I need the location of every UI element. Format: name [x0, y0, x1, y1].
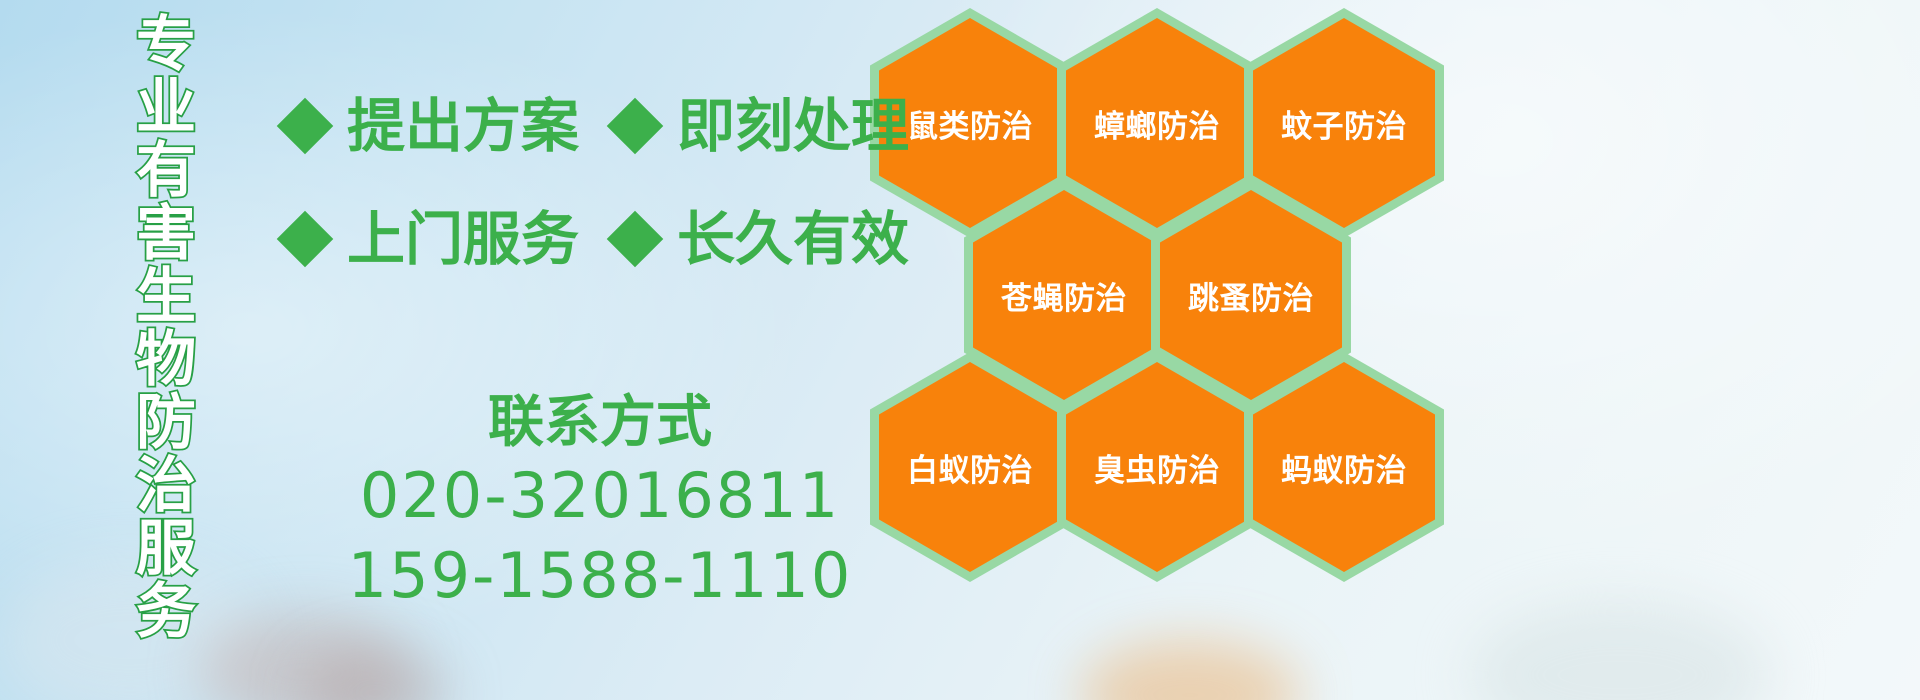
hex-label: 苍蝇防治 — [1001, 273, 1127, 318]
feature-row-1: 提出方案 即刻处理 — [285, 97, 909, 155]
feature-text-long-lasting: 长久有效 — [677, 210, 909, 268]
feature-text-immediate-handling: 即刻处理 — [677, 97, 909, 155]
honeycomb-service-grid: 鼠类防治 蟑螂防治 蚊子防治 苍蝇防治 跳蚤防治 白蚁防治 臭虫防治 蚂蚁防治 — [860, 0, 1460, 700]
diamond-icon — [277, 211, 334, 268]
contact-block: 联系方式 020-32016811 159-1588-1110 — [330, 390, 870, 616]
vertical-slogan-char: 服 — [136, 518, 196, 581]
vertical-slogan-char: 务 — [136, 581, 196, 644]
vertical-slogan-char: 治 — [136, 455, 196, 518]
feature-text-onsite-service: 上门服务 — [347, 210, 579, 268]
contact-title: 联系方式 — [330, 390, 870, 456]
vertical-slogan-char: 害 — [136, 203, 196, 266]
hex-label: 鼠类防治 — [907, 101, 1033, 146]
hex-label: 蟑螂防治 — [1094, 101, 1220, 146]
vertical-slogan-char: 防 — [136, 392, 196, 455]
diamond-icon — [607, 211, 664, 268]
hex-label: 蚊子防治 — [1281, 101, 1407, 146]
vertical-slogan-char: 有 — [136, 140, 196, 203]
vertical-slogan-char: 生 — [136, 266, 196, 329]
feature-text-propose-plan: 提出方案 — [347, 97, 579, 155]
background-bokeh-blob — [300, 648, 450, 700]
hex-label: 白蚁防治 — [907, 445, 1033, 490]
vertical-slogan: 专 业 有 害 生 物 防 治 服 务 — [120, 14, 212, 686]
diamond-icon — [607, 98, 664, 155]
background-bokeh-blob — [1470, 600, 1770, 700]
diamond-icon — [277, 98, 334, 155]
vertical-slogan-char: 业 — [136, 77, 196, 140]
hex-label: 蚂蚁防治 — [1281, 445, 1407, 490]
contact-phone-mobile[interactable]: 159-1588-1110 — [330, 536, 870, 616]
vertical-slogan-char: 专 — [136, 14, 196, 77]
background-bokeh-blob — [200, 612, 410, 700]
hex-label: 臭虫防治 — [1094, 445, 1220, 490]
vertical-slogan-char: 物 — [136, 329, 196, 392]
contact-phone-landline[interactable]: 020-32016811 — [330, 456, 870, 536]
feature-row-2: 上门服务 长久有效 — [285, 210, 909, 268]
pest-control-banner: 专 业 有 害 生 物 防 治 服 务 提出方案 即刻处理 上门服务 长久有效 … — [0, 0, 1920, 700]
hex-label: 跳蚤防治 — [1188, 273, 1314, 318]
